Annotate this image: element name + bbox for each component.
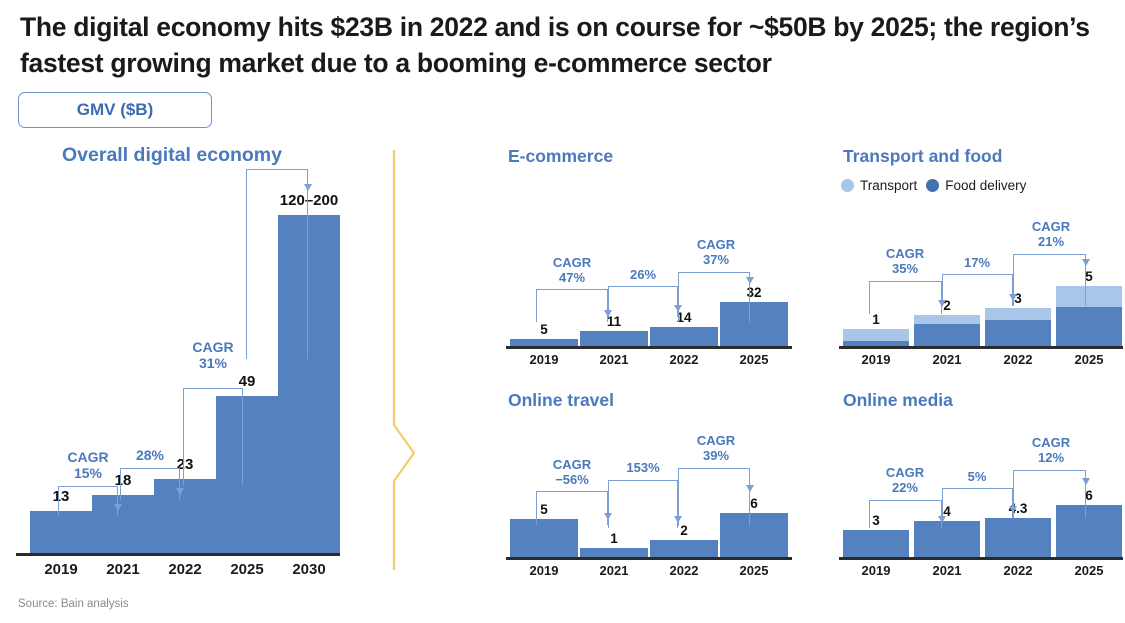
x-tick-ecommerce-2022: 2022 — [650, 352, 718, 367]
cagr-arrow-overall-1 — [114, 504, 122, 511]
cagr-bracket-online-travel-3 — [678, 468, 750, 526]
chart-title-transport-and-food: Transport and food — [843, 146, 1002, 167]
cagr-value-transport-and-food-1: 35% — [865, 262, 945, 277]
bar-ecommerce-2022[interactable] — [650, 327, 718, 346]
cagr-label-transport-and-food-2: 17% — [939, 256, 1015, 271]
cagr-label-ecommerce-3: CAGR 37% — [676, 238, 756, 267]
x-tick-transport-and-food-2019: 2019 — [843, 352, 909, 367]
bar-transport-and-food-2021-food[interactable] — [914, 324, 980, 346]
cagr-arrow-ecommerce-3 — [746, 277, 754, 284]
bar-online-travel-2021[interactable] — [580, 548, 648, 557]
cagr-arrow-overall-4 — [304, 184, 312, 191]
cagr-label-online-media-3: CAGR 12% — [1011, 436, 1091, 465]
x-tick-online-travel-2025: 2025 — [720, 563, 788, 578]
x-tick-online-media-2022: 2022 — [985, 563, 1051, 578]
x-tick-transport-and-food-2022: 2022 — [985, 352, 1051, 367]
x-tick-overall-2025: 2025 — [216, 561, 278, 578]
slide-canvas: The digital economy hits $23B in 2022 an… — [0, 0, 1125, 623]
cagr-bracket-overall-1 — [58, 486, 118, 516]
x-tick-overall-2019: 2019 — [30, 561, 92, 578]
chart-online-travel: Online travel 5 1 2 6 CAGR −56% 153% CAG… — [500, 390, 800, 590]
cagr-arrow-transport-and-food-3 — [1082, 259, 1090, 266]
chart-transport-and-food: Transport and food Transport Food delive… — [835, 146, 1125, 376]
cagr-value-ecommerce-3: 37% — [676, 253, 756, 268]
cagr-bracket-overall-4 — [246, 169, 308, 359]
chart-online-media: Online media 3 4 4.3 6 CAGR 22% 5% CAGR … — [835, 390, 1125, 590]
x-axis-overall — [16, 553, 340, 556]
cagr-word-ecommerce-3: CAGR — [676, 238, 756, 253]
cagr-label-ecommerce-2: 26% — [605, 268, 681, 283]
x-tick-overall-2022: 2022 — [154, 561, 216, 578]
chart-ecommerce: E-commerce 5 11 14 32 CAGR 47% 26% CAGR … — [500, 146, 800, 376]
x-axis-online-media — [839, 557, 1123, 560]
cagr-value-online-media-2: 5% — [939, 470, 1015, 485]
cagr-value-online-travel-1: −56% — [530, 473, 614, 488]
bar-ecommerce-2019[interactable] — [510, 339, 578, 346]
x-tick-transport-and-food-2025: 2025 — [1056, 352, 1122, 367]
cagr-word-online-media-1: CAGR — [865, 466, 945, 481]
bar-overall-2019[interactable] — [30, 511, 92, 553]
bar-transport-and-food-2025-food[interactable] — [1056, 307, 1122, 346]
cagr-value-online-travel-3: 39% — [676, 449, 756, 464]
cagr-label-online-travel-1: CAGR −56% — [530, 458, 614, 487]
cagr-word-online-media-3: CAGR — [1011, 436, 1091, 451]
legend-label-transport: Transport — [860, 178, 917, 193]
cagr-value-online-media-1: 22% — [865, 481, 945, 496]
bar-online-media-2022[interactable] — [985, 518, 1051, 557]
x-tick-online-travel-2019: 2019 — [510, 563, 578, 578]
chart-title-ecommerce: E-commerce — [508, 146, 613, 167]
cagr-bracket-transport-and-food-3 — [1013, 254, 1086, 306]
cagr-value-ecommerce-1: 47% — [532, 271, 612, 286]
legend-item-food-delivery[interactable]: Food delivery — [926, 178, 1026, 193]
cagr-bracket-online-media-3 — [1013, 470, 1086, 518]
cagr-bracket-ecommerce-3 — [678, 272, 750, 322]
x-axis-ecommerce — [506, 346, 792, 349]
cagr-value-ecommerce-2: 26% — [605, 268, 681, 283]
bar-online-media-2019[interactable] — [843, 530, 909, 557]
cagr-label-online-media-1: CAGR 22% — [865, 466, 945, 495]
cagr-value-online-media-3: 12% — [1011, 451, 1091, 466]
bar-value-online-travel-2021: 1 — [580, 531, 648, 546]
cagr-word-transport-and-food-1: CAGR — [865, 247, 945, 262]
cagr-label-online-media-2: 5% — [939, 470, 1015, 485]
cagr-label-transport-and-food-3: CAGR 21% — [1011, 220, 1091, 249]
cagr-bracket-online-travel-1 — [536, 491, 608, 525]
cagr-arrow-overall-2 — [176, 488, 184, 495]
cagr-arrow-online-media-3 — [1082, 478, 1090, 485]
cagr-bracket-overall-2 — [120, 468, 180, 500]
x-tick-online-travel-2021: 2021 — [580, 563, 648, 578]
cagr-bracket-ecommerce-2 — [608, 286, 678, 317]
cagr-bracket-online-travel-2 — [608, 480, 678, 528]
x-tick-ecommerce-2025: 2025 — [720, 352, 788, 367]
cagr-arrow-online-travel-3 — [746, 485, 754, 492]
x-tick-online-travel-2022: 2022 — [650, 563, 718, 578]
cagr-word-online-travel-3: CAGR — [676, 434, 756, 449]
legend-transport-and-food: Transport Food delivery — [841, 178, 1026, 193]
x-tick-online-media-2021: 2021 — [914, 563, 980, 578]
x-tick-online-media-2019: 2019 — [843, 563, 909, 578]
page-title: The digital economy hits $23B in 2022 an… — [20, 10, 1095, 81]
bar-transport-and-food-2021-transport[interactable] — [914, 315, 980, 324]
cagr-value-overall-2: 28% — [110, 448, 190, 464]
cagr-bracket-ecommerce-1 — [536, 289, 608, 322]
cagr-word-ecommerce-1: CAGR — [532, 256, 612, 271]
cagr-bracket-overall-3 — [183, 388, 243, 485]
cagr-bracket-transport-and-food-2 — [942, 274, 1013, 306]
legend-dot-transport-icon — [841, 179, 854, 192]
unit-pill-label: GMV ($B) — [77, 100, 154, 120]
x-tick-ecommerce-2019: 2019 — [510, 352, 578, 367]
bar-transport-and-food-2022-food[interactable] — [985, 320, 1051, 346]
x-tick-ecommerce-2021: 2021 — [580, 352, 648, 367]
cagr-label-transport-and-food-1: CAGR 35% — [865, 247, 945, 276]
bar-value-ecommerce-2019: 5 — [510, 322, 578, 337]
legend-item-transport[interactable]: Transport — [841, 178, 917, 193]
x-tick-transport-and-food-2021: 2021 — [914, 352, 980, 367]
cagr-value-transport-and-food-3: 21% — [1011, 235, 1091, 250]
x-axis-online-travel — [506, 557, 792, 560]
bar-transport-and-food-2019-transport[interactable] — [843, 329, 909, 341]
legend-label-food-delivery: Food delivery — [945, 178, 1026, 193]
cagr-word-online-travel-1: CAGR — [530, 458, 614, 473]
x-tick-overall-2030: 2030 — [278, 561, 340, 578]
chart-title-online-media: Online media — [843, 390, 953, 411]
x-axis-transport-and-food — [839, 346, 1123, 349]
cagr-label-online-travel-3: CAGR 39% — [676, 434, 756, 463]
chart-title-online-travel: Online travel — [508, 390, 614, 411]
section-divider-bracket — [386, 150, 426, 570]
chart-title-overall: Overall digital economy — [62, 144, 282, 167]
cagr-label-overall-2: 28% — [110, 448, 190, 464]
cagr-value-transport-and-food-2: 17% — [939, 256, 1015, 271]
bar-transport-and-food-2022-transport[interactable] — [985, 308, 1051, 320]
cagr-bracket-transport-and-food-1 — [869, 281, 942, 314]
cagr-word-transport-and-food-3: CAGR — [1011, 220, 1091, 235]
cagr-label-ecommerce-1: CAGR 47% — [532, 256, 612, 285]
unit-pill[interactable]: GMV ($B) — [18, 92, 212, 128]
x-tick-online-media-2025: 2025 — [1056, 563, 1122, 578]
bar-ecommerce-2021[interactable] — [580, 331, 648, 346]
chart-overall-digital-economy: Overall digital economy 13 18 23 49 120–… — [0, 140, 380, 600]
source-note: Source: Bain analysis — [18, 598, 129, 610]
x-tick-overall-2021: 2021 — [92, 561, 154, 578]
cagr-bracket-online-media-2 — [942, 488, 1013, 518]
bar-value-transport-and-food-2019: 1 — [843, 312, 909, 327]
legend-dot-food-delivery-icon — [926, 179, 939, 192]
cagr-bracket-online-media-1 — [869, 500, 942, 528]
cagr-value-online-travel-2: 153% — [604, 461, 682, 476]
cagr-label-online-travel-2: 153% — [604, 461, 682, 476]
bar-online-travel-2022[interactable] — [650, 540, 718, 557]
